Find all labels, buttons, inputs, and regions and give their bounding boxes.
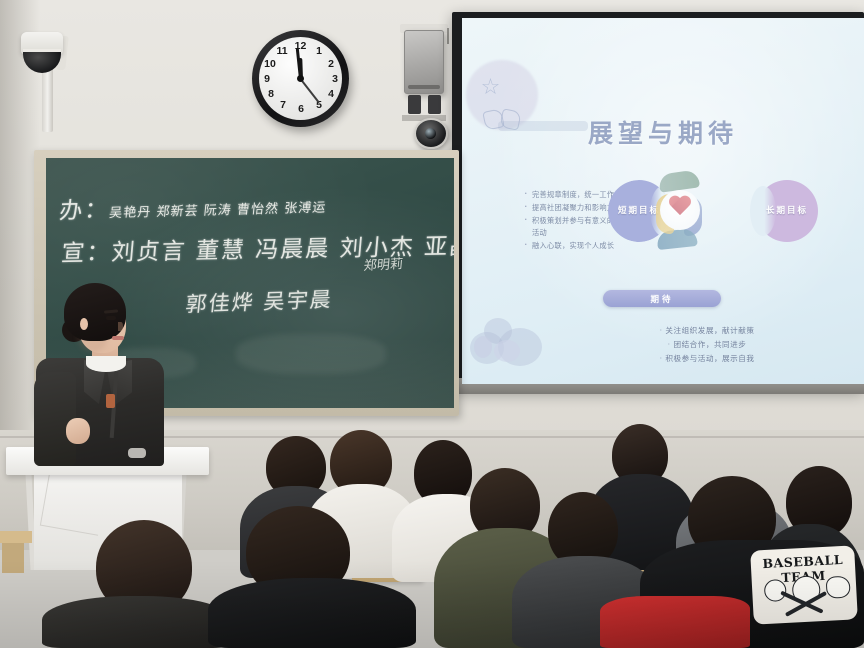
chalk-line-1: 办：吴艳丹 郑新芸 阮涛 曹怡然 张溥运 [58,185,329,226]
equipment-module-right [428,95,441,114]
baseball-team-print: BASEBALL TEAM [750,545,858,624]
presenter-ear [80,318,88,330]
lectern-cable [40,473,107,535]
presenter-nose [118,322,123,331]
chalk-label-2: 宣： [60,240,112,267]
heart-icon [668,196,692,218]
chalk-line-3: 郭佳烨 吴宇晨 [184,283,334,318]
clock-center-pin [297,75,304,82]
clock-numeral: 10 [263,59,277,69]
bullet-item: 融入心联，实现个人成长 [524,240,636,252]
slide-right-bullets: 明确…方向 不断…断环… 创造…向上… [828,189,864,228]
equipment-module-left [408,95,421,114]
bullet-item: 关注组织发展，献计献策 [612,324,802,338]
slide-expectation-bullets: 关注组织发展，献计献策 团结合作，共同进步 积极参与活动，展示自我 [572,324,802,366]
chalk-names-1: 吴艳丹 郑新芸 阮涛 曹怡然 张溥运 [108,201,327,222]
bullet-item: 积极参与活动，展示自我 [612,352,802,366]
presenter-lips [112,336,124,340]
side-desk-body [2,543,24,573]
clock-numeral: 7 [276,100,290,110]
side-desk-top [0,531,32,543]
equipment-wire [447,28,449,44]
presenter-eye [106,316,116,320]
clock-face: 12 1 2 3 4 5 6 7 8 9 10 11 [259,37,342,120]
presenter-left-arm [34,372,76,466]
clock-numeral: 3 [328,74,342,84]
red-jacket [600,596,750,648]
clock-numeral: 2 [324,59,338,69]
presenter-hand [66,418,90,444]
clock-numeral: 11 [275,46,289,56]
expectation-badge: 期待 [603,290,721,307]
long-goal-label: 长期目标 [766,206,808,217]
classroom-photo: 12 1 2 3 4 5 6 7 8 9 10 11 ☆ [0,0,864,648]
clock-numeral: 4 [324,89,338,99]
chalk-label-1: 办： [58,197,111,224]
clock-numeral: 8 [264,89,278,99]
cloud-icon [468,314,546,366]
projection-screen: ☆ 展望与期待 完善规章制度，统一工作标准 提高社团凝聚力和影响力 积极策划并参… [462,18,864,384]
glove-icon [826,576,851,599]
audience-torso [208,578,416,648]
classroom-camera-icon [414,118,448,149]
clock-numeral: 9 [260,74,274,84]
chalk-extra-name: 郑明莉 [363,253,404,274]
slide-title: 展望与期待 [462,114,864,150]
audience-torso [42,596,232,648]
presenter-badge [106,394,115,408]
hands-around-heart-icon [637,168,723,254]
bullet-item: 团结合作，共同进步 [612,338,802,352]
clock-numeral: 1 [312,46,326,56]
analog-wall-clock: 12 1 2 3 4 5 6 7 8 9 10 11 [252,30,349,127]
star-icon: ☆ [480,76,501,97]
clock-numeral: 6 [294,104,308,114]
presenter-watch [128,448,146,458]
presenter-shirt-collar [86,356,126,372]
projector-equipment-box [404,30,444,94]
clock-second-hand [300,78,320,103]
long-term-goal-circle: 长期目标 [756,180,818,242]
